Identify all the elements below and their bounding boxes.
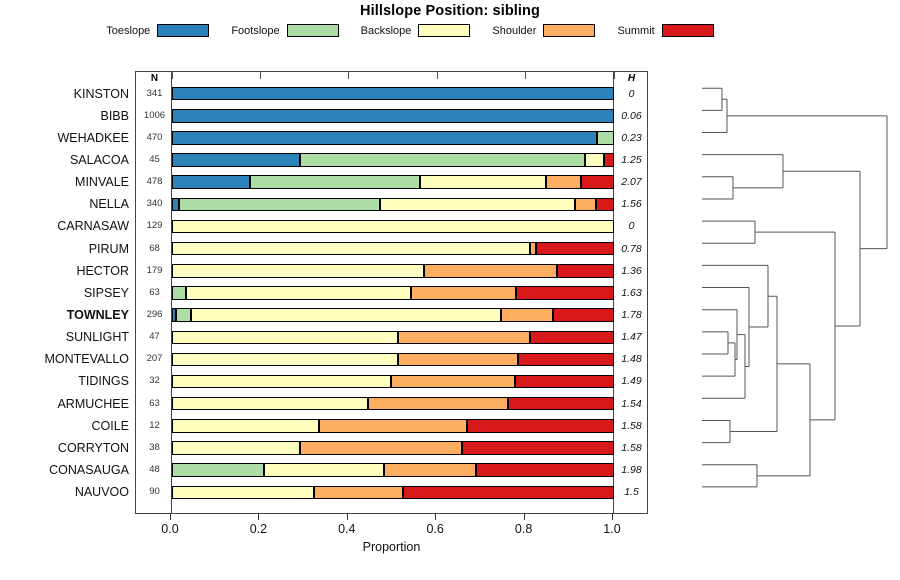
bar-segment-backslope [172,375,391,389]
row-label-bibb: BIBB [3,105,129,127]
bar-segment-shoulder [300,441,463,455]
bar-segment-summit [515,375,614,389]
legend-swatch-backslope [418,24,470,37]
row-n-value: 48 [139,459,170,481]
row-label-salacoa: SALACOA [3,149,129,171]
row-n-value: 478 [139,171,170,193]
table-row: KINSTON3410 [136,83,649,105]
x-tick-label: 0.0 [140,522,200,536]
stacked-bar [172,375,615,389]
table-row: SALACOA451.25 [136,149,649,171]
stacked-bar [172,87,615,101]
table-row: SUNLIGHT471.47 [136,326,649,348]
bar-segment-summit [508,397,614,411]
bar-segment-footslope [250,175,420,189]
legend-item-shoulder: Shoulder [492,24,595,37]
row-h-value: 1.36 [615,260,648,282]
legend-swatch-shoulder [543,24,595,37]
x-tick [258,514,259,520]
table-row: TOWNLEY2961.78 [136,304,649,326]
bar-segment-summit [581,175,614,189]
x-tick-label: 0.4 [317,522,377,536]
table-row: ARMUCHEE631.54 [136,393,649,415]
row-h-value: 1.54 [615,393,648,415]
bar-segment-toeslope [172,198,179,212]
bar-segment-backslope [172,331,398,345]
row-n-value: 47 [139,326,170,348]
table-row: TIDINGS321.49 [136,370,649,392]
stacked-bar [172,397,615,411]
row-label-armuchee: ARMUCHEE [3,393,129,415]
row-label-hector: HECTOR [3,260,129,282]
bar-segment-shoulder [319,419,467,433]
bar-rows: KINSTON3410BIBB10060.06WEHADKEE4700.23SA… [136,72,647,513]
table-row: NELLA3401.56 [136,193,649,215]
row-label-coile: COILE [3,415,129,437]
x-tick-label: 0.2 [228,522,288,536]
stacked-bar [172,308,615,322]
chart-title: Hillslope Position: sibling [0,3,900,19]
legend-label: Summit [617,25,654,37]
bar-segment-toeslope [172,87,614,101]
dendrogram [700,71,895,514]
row-n-value: 32 [139,370,170,392]
row-h-value: 1.78 [615,304,648,326]
bar-segment-backslope [585,153,604,167]
bar-segment-backslope [172,397,368,411]
table-row: MINVALE4782.07 [136,171,649,193]
stacked-bar [172,109,615,123]
row-h-value: 1.25 [615,149,648,171]
bar-segment-summit [553,308,614,322]
bar-segment-backslope [172,419,319,433]
x-axis-title: Proportion [135,540,648,554]
bar-segment-backslope [172,486,314,500]
bar-segment-shoulder [384,463,476,477]
x-tick [435,514,436,520]
row-h-value: 0.06 [615,105,648,127]
table-row: CONASAUGA481.98 [136,459,649,481]
bar-segment-shoulder [424,264,557,278]
legend-item-summit: Summit [617,24,713,37]
row-h-value: 1.5 [615,481,648,503]
bar-segment-backslope [264,463,384,477]
row-n-value: 470 [139,127,170,149]
top-tick [525,72,526,79]
row-n-value: 63 [139,282,170,304]
row-label-townley: TOWNLEY [3,304,129,326]
table-row: CARNASAW1290 [136,215,649,237]
bar-segment-footslope [172,463,264,477]
bar-segment-summit [518,353,614,367]
row-h-value: 1.49 [615,370,648,392]
x-tick [612,514,613,520]
row-n-value: 296 [139,304,170,326]
row-n-value: 340 [139,193,170,215]
row-h-value: 0 [615,83,648,105]
dendrogram-svg [700,71,895,514]
bar-segment-shoulder [391,375,515,389]
row-h-value: 0 [615,215,648,237]
legend-label: Footslope [231,25,279,37]
legend-label: Toeslope [106,25,150,37]
row-label-minvale: MINVALE [3,171,129,193]
row-h-value: 1.63 [615,282,648,304]
row-label-sunlight: SUNLIGHT [3,326,129,348]
dendrogram-link [702,310,737,360]
stacked-bar [172,220,615,234]
row-h-value: 1.47 [615,326,648,348]
row-label-corryton: CORRYTON [3,437,129,459]
x-tick [347,514,348,520]
stacked-bar [172,131,615,145]
bar-segment-summit [467,419,614,433]
dendrogram-link [783,171,860,326]
table-row: PIRUM680.78 [136,238,649,260]
row-n-value: 179 [139,260,170,282]
dendrogram-link [702,99,727,132]
row-n-value: 45 [139,149,170,171]
row-n-value: 12 [139,415,170,437]
stacked-bar [172,175,615,189]
row-label-conasauga: CONASAUGA [3,459,129,481]
row-n-value: 90 [139,481,170,503]
bar-segment-summit [557,264,614,278]
legend-label: Shoulder [492,25,536,37]
row-h-value: 1.58 [615,415,648,437]
bar-segment-toeslope [172,109,614,123]
row-h-value: 0.78 [615,238,648,260]
row-n-value: 341 [139,83,170,105]
legend: ToeslopeFootslopeBackslopeShoulderSummit [0,24,820,37]
dendrogram-link [757,364,810,476]
bar-segment-summit [596,198,614,212]
table-row: WEHADKEE4700.23 [136,127,649,149]
row-n-value: 207 [139,348,170,370]
top-tick [348,72,349,79]
stacked-bar [172,419,615,433]
stacked-bar [172,353,615,367]
stacked-bar [172,198,615,212]
row-h-value: 1.48 [615,348,648,370]
row-n-value: 1006 [139,105,170,127]
bar-segment-footslope [597,131,614,145]
legend-swatch-toeslope [157,24,209,37]
dendrogram-link [702,155,783,188]
legend-label: Backslope [361,25,412,37]
row-n-value: 68 [139,238,170,260]
dendrogram-link [755,232,835,420]
bar-segment-backslope [172,353,398,367]
table-row: CORRYTON381.58 [136,437,649,459]
stacked-bar [172,486,615,500]
row-n-value: 129 [139,215,170,237]
bar-segment-toeslope [172,153,300,167]
bar-segment-footslope [179,198,381,212]
bar-segment-summit [516,286,614,300]
x-tick [170,514,171,520]
bar-segment-shoulder [398,331,530,345]
dendrogram-link [727,116,887,249]
legend-swatch-summit [662,24,714,37]
stacked-bar [172,264,615,278]
row-label-sipsey: SIPSEY [3,282,129,304]
x-tick-label: 1.0 [582,522,642,536]
bar-segment-footslope [172,286,186,300]
stacked-bar [172,441,615,455]
row-label-wehadkee: WEHADKEE [3,127,129,149]
table-row: NAUVOO901.5 [136,481,649,503]
bar-segment-toeslope [172,175,250,189]
top-tick [260,72,261,79]
dendrogram-link [702,288,749,367]
bar-segment-shoulder [575,198,596,212]
dendrogram-link [702,465,757,487]
bar-segment-shoulder [368,397,508,411]
bar-segment-shoulder [530,242,537,256]
row-label-pirum: PIRUM [3,238,129,260]
x-tick-label: 0.8 [494,522,554,536]
bar-segment-summit [530,331,614,345]
x-axis: 0.00.20.40.60.81.0 [135,514,648,515]
top-tick [172,72,173,79]
bar-segment-summit [476,463,614,477]
bar-segment-footslope [176,308,191,322]
x-tick-label: 0.6 [405,522,465,536]
bar-segment-backslope [172,242,530,256]
bar-segment-backslope [172,441,300,455]
legend-item-footslope: Footslope [231,24,338,37]
stacked-bar [172,331,615,345]
row-label-nauvoo: NAUVOO [3,481,129,503]
x-tick [524,514,525,520]
dendrogram-link [702,177,733,199]
bar-segment-summit [462,441,614,455]
row-label-kinston: KINSTON [3,83,129,105]
bar-segment-summit [403,486,614,500]
bar-segment-backslope [186,286,411,300]
bar-segment-shoulder [314,486,402,500]
row-label-tidings: TIDINGS [3,370,129,392]
bar-segment-summit [604,153,614,167]
bar-segment-backslope [420,175,546,189]
row-h-value: 0.23 [615,127,648,149]
legend-item-toeslope: Toeslope [106,24,209,37]
stacked-bar [172,153,615,167]
bar-segment-summit [536,242,614,256]
row-h-value: 1.98 [615,459,648,481]
bar-segment-shoulder [546,175,581,189]
row-label-nella: NELLA [3,193,129,215]
top-tick [437,72,438,79]
bar-segment-shoulder [411,286,516,300]
bar-segment-backslope [172,220,614,234]
dendrogram-link [702,335,745,399]
bar-segment-toeslope [172,131,597,145]
bar-segment-footslope [300,153,585,167]
stacked-bar [172,242,615,256]
stacked-bar [172,286,615,300]
bar-segment-shoulder [398,353,518,367]
legend-item-backslope: Backslope [361,24,471,37]
bar-segment-backslope [172,264,424,278]
legend-swatch-footslope [287,24,339,37]
plot-area: N H KINSTON3410BIBB10060.06WEHADKEE4700.… [135,71,648,514]
row-n-value: 63 [139,393,170,415]
row-label-carnasaw: CARNASAW [3,215,129,237]
stacked-bar [172,463,615,477]
row-h-value: 1.56 [615,193,648,215]
row-n-value: 38 [139,437,170,459]
table-row: MONTEVALLO2071.48 [136,348,649,370]
bar-segment-backslope [380,198,575,212]
bar-segment-backslope [191,308,500,322]
dendrogram-link [702,343,735,376]
dendrogram-link [702,221,755,243]
bar-segment-shoulder [501,308,553,322]
table-row: SIPSEY631.63 [136,282,649,304]
row-h-value: 1.58 [615,437,648,459]
dendrogram-link [702,88,722,110]
top-tick [614,72,615,79]
table-row: HECTOR1791.36 [136,260,649,282]
dendrogram-link [702,332,728,354]
table-row: BIBB10060.06 [136,105,649,127]
row-h-value: 2.07 [615,171,648,193]
table-row: COILE121.58 [136,415,649,437]
row-label-montevallo: MONTEVALLO [3,348,129,370]
dendrogram-link [702,265,768,327]
dendrogram-link [702,420,730,442]
